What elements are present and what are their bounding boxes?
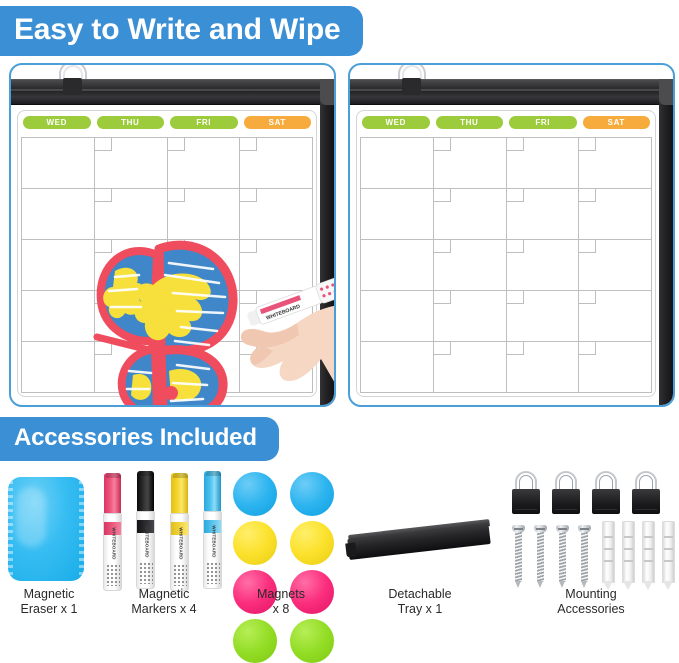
anchor-body <box>622 521 635 583</box>
day-pill-fri-right: FRI <box>509 116 577 129</box>
wiping-panel: WED THU FRI SAT <box>348 63 675 407</box>
board-top-rail-left <box>11 79 334 105</box>
hanging-clip-1 <box>512 471 540 515</box>
screw-1 <box>512 525 525 589</box>
screw-2 <box>534 525 547 589</box>
calendar-date-box <box>240 240 257 253</box>
mounting-hardware-icons <box>506 471 676 593</box>
marker-dot-pattern <box>139 562 153 584</box>
calendar-cell <box>434 291 507 342</box>
calendar-date-box <box>434 342 451 355</box>
calendar-date-box <box>579 342 596 355</box>
calendar-cell <box>507 189 580 240</box>
calendar-date-box <box>240 189 257 202</box>
writing-panel: WED THU FRI SAT <box>9 63 336 407</box>
wall-anchor-3 <box>642 521 655 591</box>
marker-dot-pattern <box>106 564 120 586</box>
calendar-date-box <box>507 138 524 151</box>
calendar-date-box <box>240 342 257 355</box>
marker-yellow: WHITEBOARD <box>170 473 189 591</box>
screw-shaft <box>581 532 588 582</box>
calendar-cell <box>95 240 168 291</box>
board-right-edge-left-panel <box>320 79 334 405</box>
wall-anchor-4 <box>662 521 675 591</box>
calendar-date-box <box>579 138 596 151</box>
calendar-day-header-left: WED THU FRI SAT <box>18 111 316 131</box>
calendar-date-box <box>95 138 112 151</box>
calendar-date-box <box>434 240 451 253</box>
calendar-cell <box>507 291 580 342</box>
calendar-cell <box>240 240 313 291</box>
calendar-cell <box>507 240 580 291</box>
calendar-date-box <box>168 291 185 304</box>
day-pill-thu: THU <box>97 116 165 129</box>
calendar-cell <box>240 138 313 189</box>
calendar-cell <box>361 342 434 393</box>
magnet-yellow-2 <box>290 521 334 565</box>
marker-dot-pattern <box>173 564 187 586</box>
anchor-body <box>602 521 615 583</box>
calendar-cell <box>361 291 434 342</box>
wall-anchor-2 <box>622 521 635 591</box>
calendar-cell <box>434 189 507 240</box>
calendar-cell <box>579 291 652 342</box>
whiteboard-frame-left: WED THU FRI SAT <box>9 63 336 407</box>
accessory-label-magnets: Magnets x 8 <box>226 587 336 617</box>
hanging-clip-2 <box>552 471 580 515</box>
board-top-rail-right <box>350 79 673 105</box>
calendar-cell <box>95 342 168 393</box>
accessory-magnetic-markers: WHITEBOARD WHITEBOARD <box>103 471 225 591</box>
tray-end-cap <box>345 542 357 557</box>
hanging-clip-3 <box>592 471 620 515</box>
calendar-date-box <box>507 189 524 202</box>
calendar-cell <box>240 342 313 393</box>
day-pill-sat-right: SAT <box>583 116 651 129</box>
hanging-clip-4 <box>632 471 660 515</box>
accessory-label-markers: Magnetic Markers x 4 <box>103 587 225 617</box>
board-corner-left-panel <box>320 79 334 105</box>
calendar-cell <box>434 342 507 393</box>
marker-dot-pattern <box>206 562 220 584</box>
marker-barrel-blue: WHITEBOARD <box>203 511 222 589</box>
magnet-blue-1 <box>233 472 277 516</box>
magnetic-eraser-icon <box>8 477 84 581</box>
accessories-row: WHITEBOARD WHITEBOARD <box>0 469 679 654</box>
eraser-highlight <box>16 487 46 547</box>
write-wipe-banner-row: Easy to Write and Wipe <box>0 0 679 56</box>
calendar-sheet-right: WED THU FRI SAT <box>356 110 656 397</box>
marker-barrel-black: WHITEBOARD <box>136 511 155 589</box>
accessory-label-mounting: Mounting Accessories <box>506 587 676 617</box>
day-pill-wed-right: WED <box>362 116 430 129</box>
magnet-yellow-1 <box>233 521 277 565</box>
calendar-date-box <box>579 240 596 253</box>
rail-clip <box>63 78 82 95</box>
calendar-date-box <box>507 240 524 253</box>
calendar-cell <box>361 240 434 291</box>
accessories-banner-row: Accessories Included <box>0 411 679 461</box>
magnet-grid <box>233 472 339 663</box>
day-pill-fri: FRI <box>170 116 238 129</box>
calendar-date-box <box>168 342 185 355</box>
calendar-grid-left <box>21 137 313 393</box>
wall-anchor-row <box>602 521 675 591</box>
calendar-date-box <box>95 342 112 355</box>
calendar-cell <box>507 342 580 393</box>
marker-cap-yellow <box>171 473 188 515</box>
board-right-edge-right-panel <box>659 79 673 405</box>
calendar-date-box <box>95 189 112 202</box>
clip-body <box>632 489 660 514</box>
calendar-cell <box>434 240 507 291</box>
calendar-cell <box>240 291 313 342</box>
screw-3 <box>556 525 569 589</box>
marker-pink: WHITEBOARD <box>103 473 122 591</box>
rail-groove-right <box>350 89 673 91</box>
day-pill-thu-right: THU <box>436 116 504 129</box>
board-corner-right-panel <box>659 79 673 105</box>
calendar-date-box <box>168 189 185 202</box>
calendar-date-box <box>507 342 524 355</box>
clip-body <box>592 489 620 514</box>
calendar-grid-right <box>360 137 652 393</box>
calendar-day-header-right: WED THU FRI SAT <box>357 111 655 131</box>
hanging-clip-row <box>512 471 660 515</box>
wall-anchor-1 <box>602 521 615 591</box>
anchor-body <box>642 521 655 583</box>
calendar-date-box <box>434 138 451 151</box>
marker-cap-top <box>139 471 154 476</box>
calendar-cell <box>361 138 434 189</box>
calendar-cell <box>168 342 241 393</box>
calendar-cell <box>22 291 95 342</box>
whiteboard-frame-right: WED THU FRI SAT <box>348 63 675 407</box>
marker-cap-pink <box>104 473 121 515</box>
calendar-cell <box>579 138 652 189</box>
calendar-cell <box>22 240 95 291</box>
calendar-date-box <box>579 291 596 304</box>
calendar-date-box <box>240 291 257 304</box>
calendar-cell <box>507 138 580 189</box>
detachable-tray-icon <box>346 515 494 585</box>
calendar-cell <box>361 189 434 240</box>
marker-barrel-pink: WHITEBOARD <box>103 513 122 591</box>
marker-barrel-yellow: WHITEBOARD <box>170 513 189 591</box>
calendar-cell <box>22 189 95 240</box>
eraser-edge-right <box>79 481 84 577</box>
screw-shaft <box>515 532 522 582</box>
marker-cap-top <box>106 473 121 478</box>
calendar-date-box <box>168 138 185 151</box>
calendar-date-box <box>240 138 257 151</box>
screw-4 <box>578 525 591 589</box>
section-banner-write-wipe: Easy to Write and Wipe <box>0 6 363 56</box>
calendar-cell <box>95 189 168 240</box>
magnet-green-2 <box>290 619 334 663</box>
calendar-date-box <box>434 189 451 202</box>
clip-body <box>552 489 580 514</box>
eraser-edge-left <box>8 481 13 577</box>
calendar-cell <box>240 189 313 240</box>
marker-cap-black <box>137 471 154 513</box>
calendar-cell <box>579 342 652 393</box>
calendar-cell <box>434 138 507 189</box>
rail-clip-right <box>402 78 421 95</box>
calendar-cell <box>579 240 652 291</box>
calendar-cell <box>168 240 241 291</box>
anchor-body <box>662 521 675 583</box>
calendar-cell <box>168 189 241 240</box>
screw-row <box>512 525 591 589</box>
board-demo-panels: WED THU FRI SAT <box>0 63 679 411</box>
accessory-detachable-tray <box>346 515 494 585</box>
accessory-magnets <box>233 472 339 663</box>
accessory-magnetic-eraser <box>8 477 84 581</box>
calendar-date-box <box>95 291 112 304</box>
screw-shaft <box>537 532 544 582</box>
section-banner-accessories: Accessories Included <box>0 417 279 461</box>
screw-shaft <box>559 532 566 582</box>
calendar-date-box <box>95 240 112 253</box>
calendar-cell <box>22 138 95 189</box>
day-pill-sat: SAT <box>244 116 312 129</box>
marker-cap-top <box>206 471 221 476</box>
magnet-green-1 <box>233 619 277 663</box>
marker-black: WHITEBOARD <box>136 471 155 589</box>
calendar-cell <box>168 138 241 189</box>
calendar-date-box <box>168 240 185 253</box>
accessory-label-eraser: Magnetic Eraser x 1 <box>0 587 98 617</box>
calendar-cell <box>95 138 168 189</box>
rail-groove <box>11 89 334 91</box>
accessory-mounting-hardware <box>506 471 676 593</box>
calendar-cell <box>22 342 95 393</box>
calendar-date-box <box>579 189 596 202</box>
magnet-blue-2 <box>290 472 334 516</box>
calendar-cell <box>95 291 168 342</box>
marker-cap-top <box>173 473 188 478</box>
marker-set: WHITEBOARD WHITEBOARD <box>103 471 225 591</box>
calendar-date-box <box>434 291 451 304</box>
marker-blue: WHITEBOARD <box>203 471 222 589</box>
marker-cap-blue <box>204 471 221 513</box>
clip-body <box>512 489 540 514</box>
calendar-sheet-left: WED THU FRI SAT <box>17 110 317 397</box>
calendar-cell <box>168 291 241 342</box>
accessory-label-tray: Detachable Tray x 1 <box>346 587 494 617</box>
day-pill-wed: WED <box>23 116 91 129</box>
calendar-date-box <box>507 291 524 304</box>
calendar-cell <box>579 189 652 240</box>
